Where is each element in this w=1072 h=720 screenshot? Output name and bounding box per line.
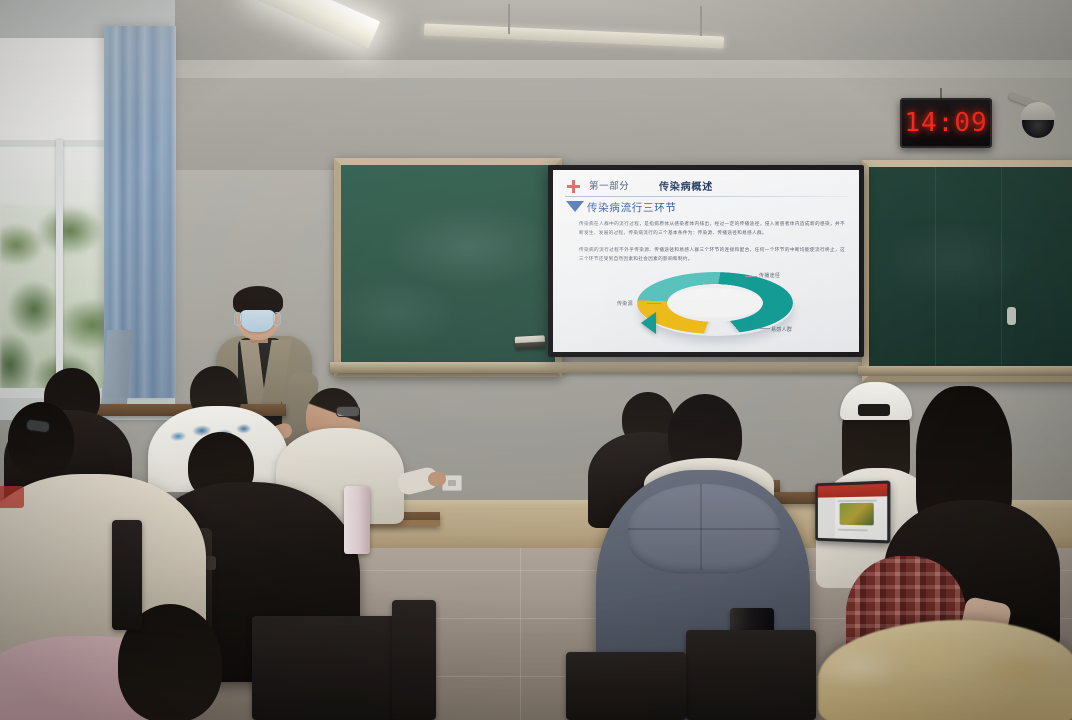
- slide-header: 第一部分 传染病概述: [567, 178, 849, 196]
- hood-seam: [700, 484, 702, 570]
- presentation-slide: 第一部分 传染病概述 传染病流行三环节 传染病在人群中的流行过程，是指病原体从感…: [553, 170, 859, 352]
- chair-back: [566, 652, 686, 720]
- chair-back: [112, 520, 142, 630]
- camera-lens: [1022, 120, 1054, 138]
- chalk-rail: [330, 362, 875, 373]
- student-hand: [428, 472, 446, 486]
- cap-back-opening: [858, 404, 890, 416]
- wall-digital-clock: 14:09: [900, 98, 992, 148]
- projector-screen: 第一部分 传染病概述 传染病流行三环节 传染病在人群中的流行过程，是指病原体从感…: [548, 165, 864, 357]
- laptop-screen: [818, 484, 887, 541]
- chalk-eraser[interactable]: [515, 335, 546, 350]
- chair-back: [252, 616, 412, 720]
- classroom-photo: 第一部分 传染病概述 传染病流行三环节 传染病在人群中的流行过程，是指病原体从感…: [0, 0, 1072, 720]
- lamp-stem: [508, 4, 510, 34]
- cycle-leader-line: [745, 276, 757, 277]
- slide-paragraph-1: 传染病在人群中的流行过程，是指病原体从感染者体内排出，经过一定的传播途径，侵入易…: [579, 220, 845, 237]
- dome-security-camera: [1014, 92, 1060, 142]
- app-sidebar: [818, 497, 835, 538]
- window-mullion: [56, 140, 63, 393]
- cycle-label-host: 易感人群: [771, 326, 792, 333]
- cycle-leader-line: [647, 303, 661, 304]
- cycle-label-source: 传染源: [617, 300, 633, 307]
- student-head: [8, 402, 74, 476]
- slide-paragraph-2: 传染病的流行过程不外乎传染源、传播途径和易感人群三个环节的连接和配合，任何一个环…: [579, 246, 845, 263]
- chalk-stick[interactable]: [1007, 307, 1016, 325]
- face-mask: [240, 310, 275, 332]
- eyeglasses: [336, 406, 360, 417]
- student-laptop[interactable]: [812, 482, 890, 542]
- cycle-arrow-head: [641, 312, 656, 334]
- slide-header-rule: [565, 196, 849, 197]
- cycle-leader-line: [759, 328, 770, 329]
- cycle-center: [667, 288, 763, 318]
- hood-seam: [628, 528, 780, 530]
- lamp-stem: [700, 6, 702, 36]
- app-toolbar: [818, 484, 887, 498]
- classroom-window: [0, 0, 175, 420]
- slide-title: 传染病概述: [659, 178, 713, 193]
- medical-cross-icon: [567, 180, 580, 193]
- slide-section-heading: 传染病流行三环节: [587, 200, 677, 215]
- chair-back: [392, 600, 436, 720]
- board-seam: [1001, 167, 1002, 375]
- chair-back: [686, 630, 816, 720]
- green-chalkboard-right: [862, 160, 1072, 382]
- chalkboard-surface: [869, 167, 1072, 375]
- hair-clip: [0, 486, 24, 508]
- app-image-thumbnail: [840, 503, 874, 525]
- cycle-label-route: 传播途径: [759, 272, 780, 279]
- chalk-rail: [858, 366, 1072, 376]
- slide-part-label: 第一部分: [589, 178, 629, 192]
- pink-thermos-bottle[interactable]: [344, 486, 370, 554]
- board-seam: [935, 167, 936, 375]
- laptop-lid: [815, 480, 890, 543]
- clock-time: 14:09: [904, 110, 987, 136]
- transmission-cycle-diagram: 传染源 传播途径 易感人群: [619, 266, 815, 340]
- triangle-bullet-icon: [566, 201, 584, 212]
